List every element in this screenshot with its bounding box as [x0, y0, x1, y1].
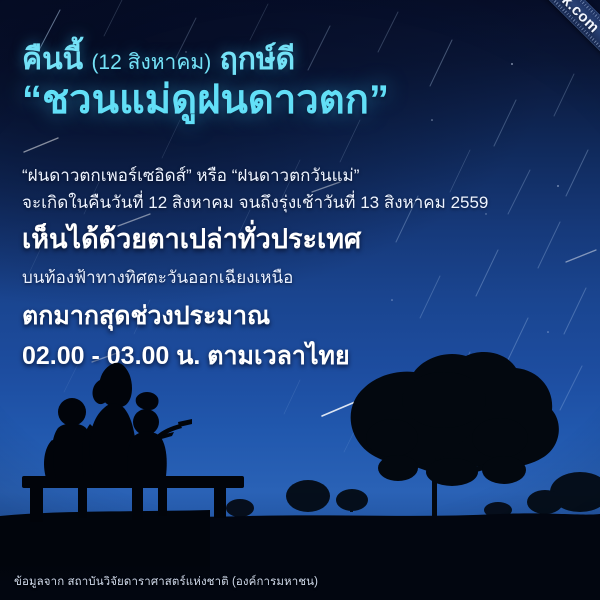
footer-credit-text: ข้อมูลจาก สถาบันวิจัยดาราศาสตร์แห่งชาติ …: [0, 573, 318, 591]
poster-root: www.kapook.com คืนนี้ (12 สิงหาคม) ฤกษ์ด…: [0, 0, 600, 600]
intro-line-2: จะเกิดในคืนวันที่ 12 สิงหาคม จนถึงรุ่งเช…: [22, 189, 582, 217]
intro-line-1: “ฝนดาวตกเพอร์เซอิดส์” หรือ “ฝนดาวตกวันแม…: [22, 162, 582, 190]
headline-auspicious: ฤกษ์ดี: [220, 43, 296, 76]
footer-credit-bar: ข้อมูลจาก สถาบันวิจัยดาราศาสตร์แห่งชาติ …: [0, 564, 600, 600]
big-tree-silhouette: [351, 352, 559, 518]
emphasis-peak-period: ตกมากสุดช่วงประมาณ: [22, 300, 582, 334]
figure-child-right-pointing: [127, 392, 192, 476]
landscape-silhouette-layer: [0, 340, 600, 600]
headline-line-2: “ชวนแม่ดูฝนดาวตก”: [22, 78, 582, 122]
sky-direction-text: บนท้องฟ้าทางทิศตะวันออกเฉียงเหนือ: [22, 265, 582, 291]
headline-date-paren: (12 สิงหาคม): [91, 51, 211, 74]
emphasis-visible-naked-eye: เห็นได้ด้วยตาเปล่าทั่วประเทศ: [22, 222, 582, 257]
text-content-block: คืนนี้ (12 สิงหาคม) ฤกษ์ดี “ชวนแม่ดูฝนดา…: [22, 44, 582, 374]
headline-line-1: คืนนี้ (12 สิงหาคม) ฤกษ์ดี: [22, 44, 582, 76]
headline-tonight: คืนนี้: [22, 43, 83, 76]
distant-trees: [226, 472, 600, 518]
